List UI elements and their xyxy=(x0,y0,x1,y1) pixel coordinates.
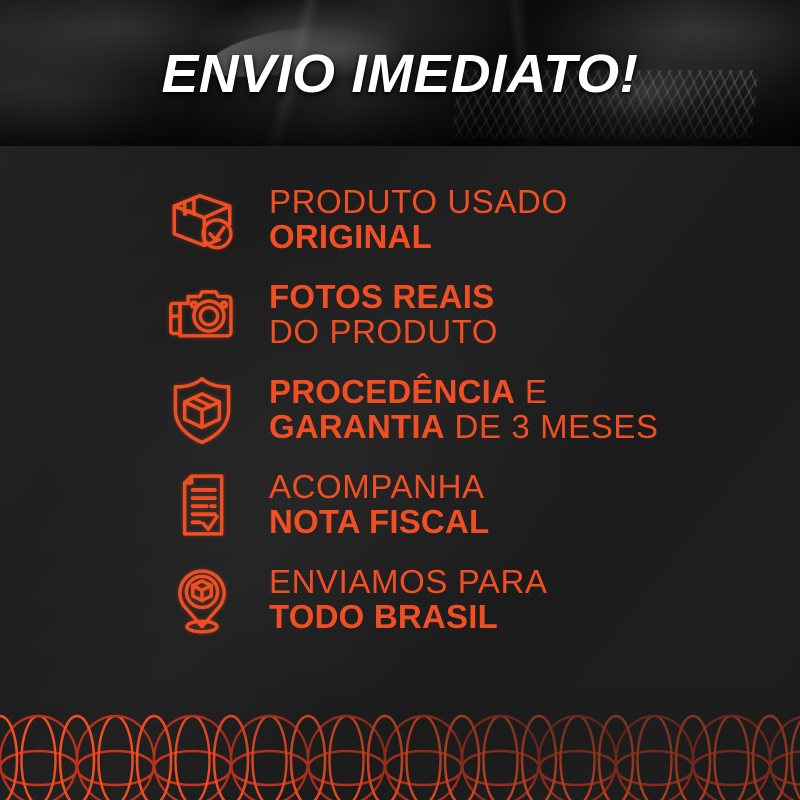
feature-line-1-light: E xyxy=(515,373,547,410)
feature-row-procedencia-garantia: PROCEDÊNCIA E GARANTIA DE 3 MESES xyxy=(0,362,800,457)
arabesque-border-pattern xyxy=(0,690,800,800)
feature-line-2-bold: GARANTIA xyxy=(269,408,445,445)
shield-box-icon xyxy=(163,371,241,449)
feature-text-fotos-reais: FOTOS REAIS DO PRODUTO xyxy=(269,280,498,349)
feature-line-2: NOTA FISCAL xyxy=(269,505,489,539)
feature-line-1: PRODUTO USADO xyxy=(269,185,568,219)
map-pin-box-icon xyxy=(163,561,241,639)
feature-line-1: ENVIAMOS PARA xyxy=(269,565,548,599)
feature-line-1-bold: PROCEDÊNCIA xyxy=(269,373,515,410)
feature-row-fotos-reais: FOTOS REAIS DO PRODUTO xyxy=(0,267,800,362)
box-check-icon xyxy=(163,181,241,259)
feature-line-1: FOTOS REAIS xyxy=(269,280,498,314)
feature-row-nota-fiscal: ACOMPANHA NOTA FISCAL xyxy=(0,457,800,552)
page-title: ENVIO IMEDIATO! xyxy=(0,47,800,101)
feature-row-todo-brasil: ENVIAMOS PARA TODO BRASIL xyxy=(0,552,800,647)
feature-line-1: ACOMPANHA xyxy=(269,470,489,504)
feature-list: PRODUTO USADO ORIGINAL FOTOS REAIS DO xyxy=(0,172,800,647)
feature-text-todo-brasil: ENVIAMOS PARA TODO BRASIL xyxy=(269,565,548,634)
feature-line-2: TODO BRASIL xyxy=(269,600,548,634)
invoice-document-icon xyxy=(163,466,241,544)
feature-text-produto-original: PRODUTO USADO ORIGINAL xyxy=(269,185,568,254)
feature-line-1: PROCEDÊNCIA E xyxy=(269,375,659,409)
feature-text-nota-fiscal: ACOMPANHA NOTA FISCAL xyxy=(269,470,489,539)
feature-row-produto-original: PRODUTO USADO ORIGINAL xyxy=(0,172,800,267)
feature-line-2: DO PRODUTO xyxy=(269,315,498,349)
banner-header: ENVIO IMEDIATO! xyxy=(0,0,800,146)
promo-banner: ENVIO IMEDIATO! PRODUTO USADO ORIGINAL xyxy=(0,0,800,800)
feature-line-2: ORIGINAL xyxy=(269,220,568,254)
ornament-svg xyxy=(0,690,800,800)
feature-line-2: GARANTIA DE 3 MESES xyxy=(269,410,659,444)
feature-line-2-light: DE 3 MESES xyxy=(445,408,659,445)
camera-icon xyxy=(163,276,241,354)
feature-text-procedencia-garantia: PROCEDÊNCIA E GARANTIA DE 3 MESES xyxy=(269,375,659,444)
